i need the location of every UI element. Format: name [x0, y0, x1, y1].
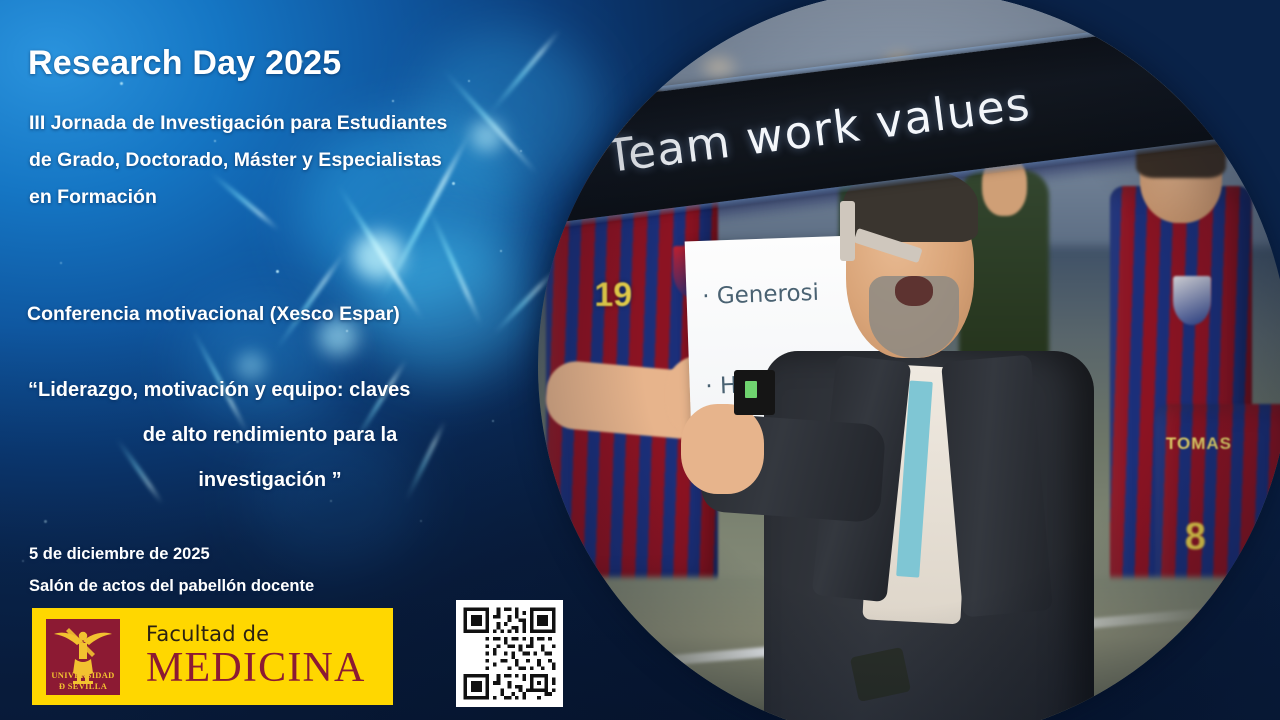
crest-line-2: Ð SEVILLA: [46, 681, 120, 691]
subtitle-line-3: en Formación: [29, 179, 559, 216]
subtitle-line-1: III Jornada de Investigación para Estudi…: [29, 105, 559, 142]
talk-title-line-2: de alto rendimiento para la: [20, 413, 520, 458]
subtitle-line-2: de Grado, Doctorado, Máster y Especialis…: [29, 142, 559, 179]
talk-label: Conferencia motivacional (Xesco Espar): [27, 303, 400, 326]
crest-line-1: UNIVERSIDAD: [46, 670, 120, 680]
talk-title: “Liderazgo, motivación y equipo: claves …: [20, 368, 520, 503]
event-meta: 5 de diciembre de 2025 Salón de actos de…: [29, 538, 314, 602]
event-venue: Salón de actos del pabellón docente: [29, 570, 314, 602]
qr-code[interactable]: [456, 600, 563, 707]
faculty-top-label: Facultad de: [146, 624, 366, 645]
talk-title-line-3: investigación ”: [20, 458, 520, 503]
event-date: 5 de diciembre de 2025: [29, 538, 314, 570]
qr-code-icon[interactable]: [456, 600, 563, 707]
faculty-main-label: MEDICINA: [146, 647, 366, 689]
university-logo: UNIVERSIDAD Ð SEVILLA Facultad de MEDICI…: [32, 608, 393, 705]
event-subtitle: III Jornada de Investigación para Estudi…: [29, 105, 559, 216]
page-title: Research Day 2025: [28, 44, 341, 83]
university-crest: UNIVERSIDAD Ð SEVILLA: [46, 619, 120, 695]
talk-title-line-1: “Liderazgo, motivación y equipo: claves: [28, 368, 520, 413]
poster-canvas: 19 TOMAS 8 · Generosi · Hu: [0, 0, 1280, 720]
speaker-photo: 19 TOMAS 8 · Generosi · Hu: [538, 0, 1280, 720]
photo-vignette: [538, 0, 1280, 720]
faculty-text: Facultad de MEDICINA: [146, 624, 366, 689]
